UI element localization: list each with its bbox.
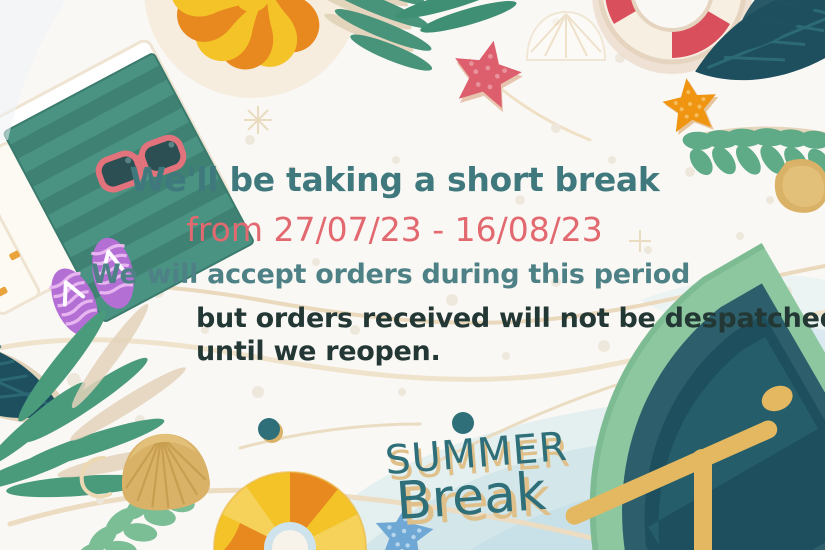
summer-break-poster: We'll be taking a short break from 27/07… (0, 0, 825, 550)
logo-break-text: Break (394, 462, 548, 532)
summer-break-logo: SUMMER SUMMER Break Break (355, 418, 615, 528)
